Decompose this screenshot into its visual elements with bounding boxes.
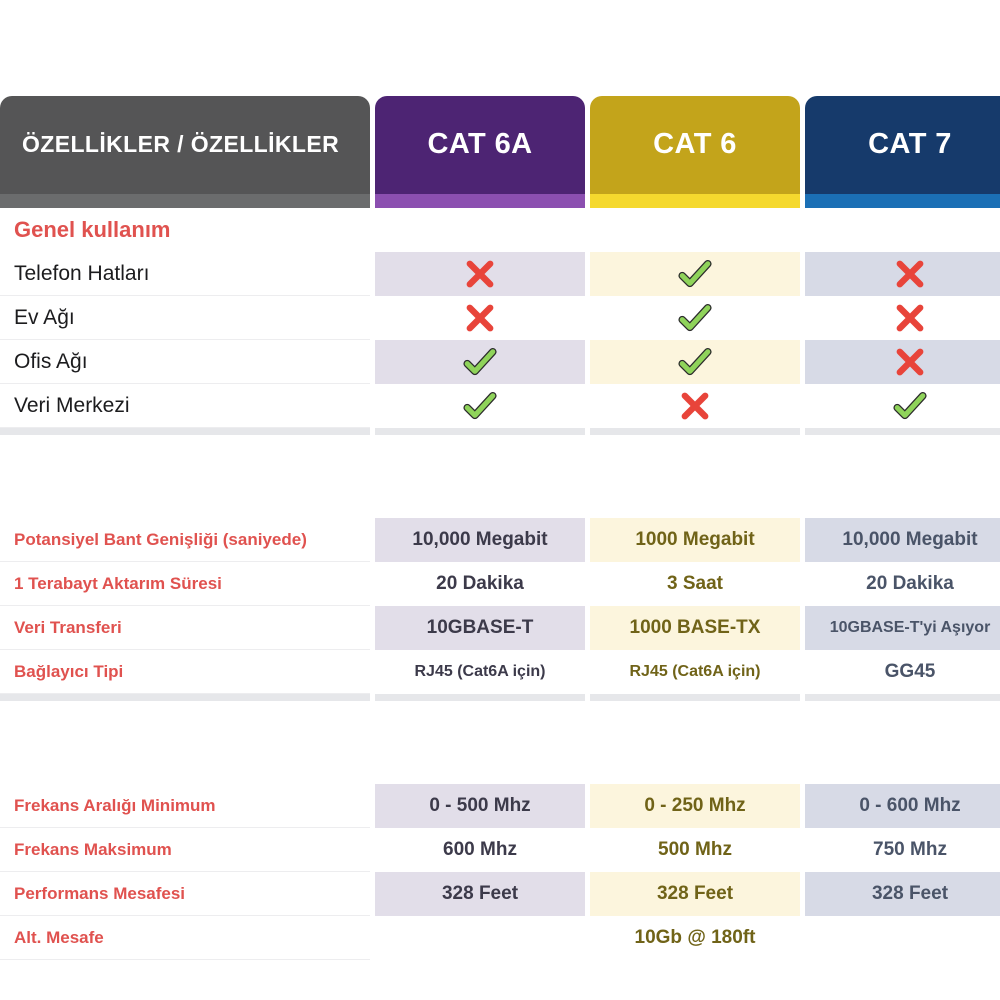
cell-cat6: 3 Saat — [590, 562, 800, 606]
cell-value: 0 - 500 Mhz — [423, 795, 536, 817]
cell-wrapper: 10GBASE-T — [375, 606, 585, 650]
cell-value: 10GBASE-T — [421, 617, 540, 639]
cell-cat6: 328 Feet — [590, 872, 800, 916]
cell-wrapper — [375, 252, 585, 296]
separator-bar — [805, 428, 1000, 435]
row-label: 1 Terabayt Aktarım Süresi — [14, 574, 222, 594]
separator-bar — [375, 694, 585, 701]
cell-wrapper: 600 Mhz — [375, 828, 585, 872]
cell-value: 1000 BASE-TX — [624, 617, 767, 639]
cell-cat6a — [375, 384, 585, 428]
cell-value: 3 Saat — [661, 573, 729, 595]
cross-icon — [893, 301, 927, 335]
cell-cat6: 1000 BASE-TX — [590, 606, 800, 650]
header-column-label: CAT 7 — [868, 129, 952, 175]
cell-value: 20 Dakika — [430, 573, 530, 595]
separator-bar — [590, 694, 800, 701]
table-row: Ev Ağı — [0, 296, 1000, 340]
cell-value: 10,000 Megabit — [406, 529, 553, 551]
cell-wrapper: 10,000 Megabit — [805, 518, 1000, 562]
table-row: Veri Merkezi — [0, 384, 1000, 428]
row-label: Ofis Ağı — [14, 350, 88, 374]
cell-wrapper: 1000 BASE-TX — [590, 606, 800, 650]
cell-wrapper — [375, 916, 585, 960]
cell-value: 600 Mhz — [437, 839, 523, 861]
cell-value: RJ45 (Cat6A için) — [624, 663, 767, 681]
cell-value: 328 Feet — [866, 883, 954, 905]
cable-comparison-table: ÖZELLİKLER / ÖZELLİKLERCAT 6ACAT 6CAT 7G… — [0, 0, 1000, 960]
cell-wrapper — [805, 916, 1000, 960]
cell-wrapper: 0 - 250 Mhz — [590, 784, 800, 828]
cell-wrapper — [590, 340, 800, 384]
cell-value: GG45 — [879, 661, 942, 683]
header-accent-strip — [375, 194, 585, 208]
row-label-cell: Performans Mesafesi — [0, 872, 370, 916]
row-label-cell: Alt. Mesafe — [0, 916, 370, 960]
cross-icon — [678, 389, 712, 423]
cell-cat6a: 10GBASE-T — [375, 606, 585, 650]
cell-wrapper — [590, 296, 800, 340]
cell-cat6a — [375, 916, 585, 960]
check-icon — [463, 345, 497, 379]
cell-cat7: 20 Dakika — [805, 562, 1000, 606]
cell-value: 1000 Megabit — [629, 529, 760, 551]
cell-cat6: 1000 Megabit — [590, 518, 800, 562]
cell-cat7: 328 Feet — [805, 872, 1000, 916]
header-column-label: CAT 6 — [653, 129, 737, 175]
row-label: Veri Merkezi — [14, 394, 130, 418]
cell-wrapper: 328 Feet — [805, 872, 1000, 916]
header-column-cat6a[interactable]: CAT 6A — [375, 96, 585, 208]
cell-cat6 — [590, 340, 800, 384]
header-accent-strip — [805, 194, 1000, 208]
cell-cat6a — [375, 340, 585, 384]
cell-value: 0 - 250 Mhz — [638, 795, 751, 817]
cell-wrapper: 500 Mhz — [590, 828, 800, 872]
cell-wrapper: 20 Dakika — [375, 562, 585, 606]
row-label-cell: Veri Merkezi — [0, 384, 370, 428]
cell-wrapper — [375, 340, 585, 384]
table-row: Frekans Maksimum600 Mhz500 Mhz750 Mhz — [0, 828, 1000, 872]
cell-wrapper: 328 Feet — [590, 872, 800, 916]
cell-wrapper: 20 Dakika — [805, 562, 1000, 606]
cell-cat6 — [590, 252, 800, 296]
cell-value: RJ45 (Cat6A için) — [409, 663, 552, 681]
cell-value: 328 Feet — [651, 883, 739, 905]
row-label-cell: Ev Ağı — [0, 296, 370, 340]
cell-cat6 — [590, 296, 800, 340]
header-features: ÖZELLİKLER / ÖZELLİKLER — [0, 96, 370, 208]
cell-wrapper: 328 Feet — [375, 872, 585, 916]
cell-wrapper: 10GBASE-T'yi Aşıyor — [805, 606, 1000, 650]
section-separator — [0, 428, 1000, 474]
cell-value: 10Gb @ 180ft — [629, 927, 762, 949]
header-column-cat7[interactable]: CAT 7 — [805, 96, 1000, 208]
cross-icon — [893, 257, 927, 291]
row-label: Bağlayıcı Tipi — [14, 662, 123, 682]
cell-wrapper: 0 - 600 Mhz — [805, 784, 1000, 828]
cell-wrapper: 1000 Megabit — [590, 518, 800, 562]
header-accent-strip — [0, 194, 370, 208]
cell-wrapper: RJ45 (Cat6A için) — [590, 650, 800, 694]
cell-wrapper — [590, 384, 800, 428]
cell-wrapper — [805, 340, 1000, 384]
cell-wrapper — [375, 384, 585, 428]
section-spacer — [0, 474, 1000, 518]
check-icon — [678, 257, 712, 291]
table-row: Alt. Mesafe10Gb @ 180ft — [0, 916, 1000, 960]
check-icon — [678, 345, 712, 379]
separator-bar — [375, 428, 585, 435]
cell-value: 20 Dakika — [860, 573, 960, 595]
row-label: Veri Transferi — [14, 618, 122, 638]
cell-cat6a: 10,000 Megabit — [375, 518, 585, 562]
comparison-table-page: ÖZELLİKLER / ÖZELLİKLERCAT 6ACAT 6CAT 7G… — [0, 0, 1000, 1000]
cell-cat7 — [805, 252, 1000, 296]
cell-cat6a: 20 Dakika — [375, 562, 585, 606]
cell-value: 0 - 600 Mhz — [853, 795, 966, 817]
cell-wrapper: RJ45 (Cat6A için) — [375, 650, 585, 694]
separator-bar — [0, 694, 370, 701]
cell-cat6 — [590, 384, 800, 428]
cell-cat7 — [805, 916, 1000, 960]
cell-cat6: RJ45 (Cat6A için) — [590, 650, 800, 694]
check-icon — [678, 301, 712, 335]
cell-cat6a — [375, 252, 585, 296]
cell-wrapper: 750 Mhz — [805, 828, 1000, 872]
row-label-cell: Ofis Ağı — [0, 340, 370, 384]
cell-cat7: 10,000 Megabit — [805, 518, 1000, 562]
table-row: Telefon Hatları — [0, 252, 1000, 296]
row-label-cell: Bağlayıcı Tipi — [0, 650, 370, 694]
table-row: Bağlayıcı TipiRJ45 (Cat6A için)RJ45 (Cat… — [0, 650, 1000, 694]
cell-wrapper — [805, 384, 1000, 428]
row-label-cell: Frekans Maksimum — [0, 828, 370, 872]
cell-cat7 — [805, 384, 1000, 428]
section-heading-row: Genel kullanım — [0, 208, 1000, 252]
cell-value: 10GBASE-T'yi Aşıyor — [824, 619, 997, 637]
cell-value: 328 Feet — [436, 883, 524, 905]
header-accent-strip — [590, 194, 800, 208]
cell-wrapper — [375, 296, 585, 340]
cell-value: 500 Mhz — [652, 839, 738, 861]
check-icon — [893, 389, 927, 423]
row-label: Alt. Mesafe — [14, 928, 104, 948]
cell-wrapper — [590, 252, 800, 296]
cell-cat7: 10GBASE-T'yi Aşıyor — [805, 606, 1000, 650]
cell-wrapper: 10Gb @ 180ft — [590, 916, 800, 960]
section-spacer — [0, 740, 1000, 784]
cell-wrapper: 10,000 Megabit — [375, 518, 585, 562]
section-separator — [0, 694, 1000, 740]
cell-cat6: 0 - 250 Mhz — [590, 784, 800, 828]
separator-bar — [805, 694, 1000, 701]
separator-bar — [590, 428, 800, 435]
table-header-row: ÖZELLİKLER / ÖZELLİKLERCAT 6ACAT 6CAT 7 — [0, 96, 1000, 208]
header-features-label: ÖZELLİKLER / ÖZELLİKLER — [0, 132, 370, 171]
cell-value: 10,000 Megabit — [836, 529, 983, 551]
row-label-cell: 1 Terabayt Aktarım Süresi — [0, 562, 370, 606]
cell-value: 750 Mhz — [867, 839, 953, 861]
row-label: Frekans Aralığı Minimum — [14, 796, 216, 816]
cross-icon — [893, 345, 927, 379]
cell-wrapper: GG45 — [805, 650, 1000, 694]
row-label-cell: Potansiyel Bant Genişliği (saniyede) — [0, 518, 370, 562]
row-label: Potansiyel Bant Genişliği (saniyede) — [14, 530, 307, 550]
cell-cat7: 750 Mhz — [805, 828, 1000, 872]
row-label: Ev Ağı — [14, 306, 75, 330]
cell-cat7 — [805, 296, 1000, 340]
cell-cat6a — [375, 296, 585, 340]
table-row: Ofis Ağı — [0, 340, 1000, 384]
table-row: Frekans Aralığı Minimum0 - 500 Mhz0 - 25… — [0, 784, 1000, 828]
cell-cat7: 0 - 600 Mhz — [805, 784, 1000, 828]
cell-cat6a: 0 - 500 Mhz — [375, 784, 585, 828]
row-label-cell: Veri Transferi — [0, 606, 370, 650]
cell-wrapper — [805, 296, 1000, 340]
cell-cat6a: 600 Mhz — [375, 828, 585, 872]
cell-wrapper — [805, 252, 1000, 296]
cell-cat7 — [805, 340, 1000, 384]
cell-cat6: 500 Mhz — [590, 828, 800, 872]
cross-icon — [463, 301, 497, 335]
row-label: Frekans Maksimum — [14, 840, 172, 860]
row-label-cell: Telefon Hatları — [0, 252, 370, 296]
header-column-label: CAT 6A — [428, 129, 533, 175]
cell-cat6a: RJ45 (Cat6A için) — [375, 650, 585, 694]
cell-wrapper: 0 - 500 Mhz — [375, 784, 585, 828]
cell-wrapper: 3 Saat — [590, 562, 800, 606]
row-label: Telefon Hatları — [14, 262, 149, 286]
table-row: 1 Terabayt Aktarım Süresi20 Dakika3 Saat… — [0, 562, 1000, 606]
cell-cat6: 10Gb @ 180ft — [590, 916, 800, 960]
header-column-cat6[interactable]: CAT 6 — [590, 96, 800, 208]
row-label: Performans Mesafesi — [14, 884, 185, 904]
cell-cat6a: 328 Feet — [375, 872, 585, 916]
table-row: Performans Mesafesi328 Feet328 Feet328 F… — [0, 872, 1000, 916]
cross-icon — [463, 257, 497, 291]
table-row: Veri Transferi10GBASE-T1000 BASE-TX10GBA… — [0, 606, 1000, 650]
check-icon — [463, 389, 497, 423]
section-title: Genel kullanım — [14, 217, 171, 243]
cell-cat7: GG45 — [805, 650, 1000, 694]
separator-bar — [0, 428, 370, 435]
table-row: Potansiyel Bant Genişliği (saniyede)10,0… — [0, 518, 1000, 562]
row-label-cell: Frekans Aralığı Minimum — [0, 784, 370, 828]
